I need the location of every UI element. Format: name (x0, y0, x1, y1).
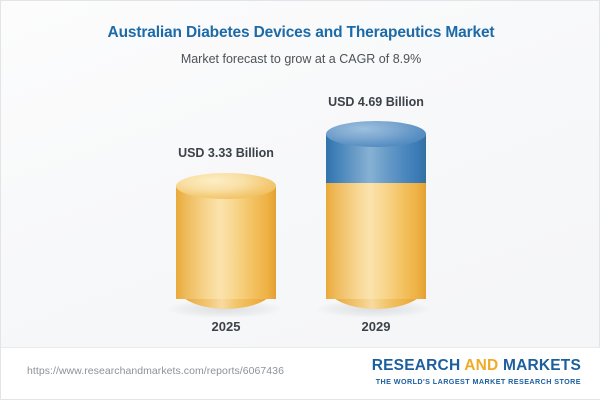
source-url-link[interactable]: https://www.researchandmarkets.com/repor… (27, 365, 284, 377)
brand-word-research: RESEARCH (372, 357, 465, 374)
brand-logo[interactable]: RESEARCH AND MARKETS THE WORLD'S LARGEST… (372, 357, 581, 386)
brand-word-markets: MARKETS (498, 357, 581, 374)
category-label-2025: 2025 (156, 319, 296, 334)
brand-wordmark: RESEARCH AND MARKETS (372, 357, 581, 375)
bar-segment-base-2029 (326, 183, 426, 299)
footer-bar: https://www.researchandmarkets.com/repor… (1, 347, 600, 399)
infographic-canvas: Australian Diabetes Devices and Therapeu… (0, 0, 600, 400)
value-label-2025: USD 3.33 Billion (156, 146, 296, 160)
chart-plot-area: USD 3.33 Billion 2025 USD 4.69 Billion 2… (1, 1, 600, 349)
bar-segment-base-2025 (176, 186, 276, 299)
value-label-2029: USD 4.69 Billion (306, 95, 446, 109)
brand-tagline: THE WORLD'S LARGEST MARKET RESEARCH STOR… (372, 377, 581, 386)
brand-word-and: AND (464, 357, 498, 374)
category-label-2029: 2029 (306, 319, 446, 334)
bar-top-cap-2029 (326, 121, 426, 147)
bar-top-cap-2025 (176, 173, 276, 199)
